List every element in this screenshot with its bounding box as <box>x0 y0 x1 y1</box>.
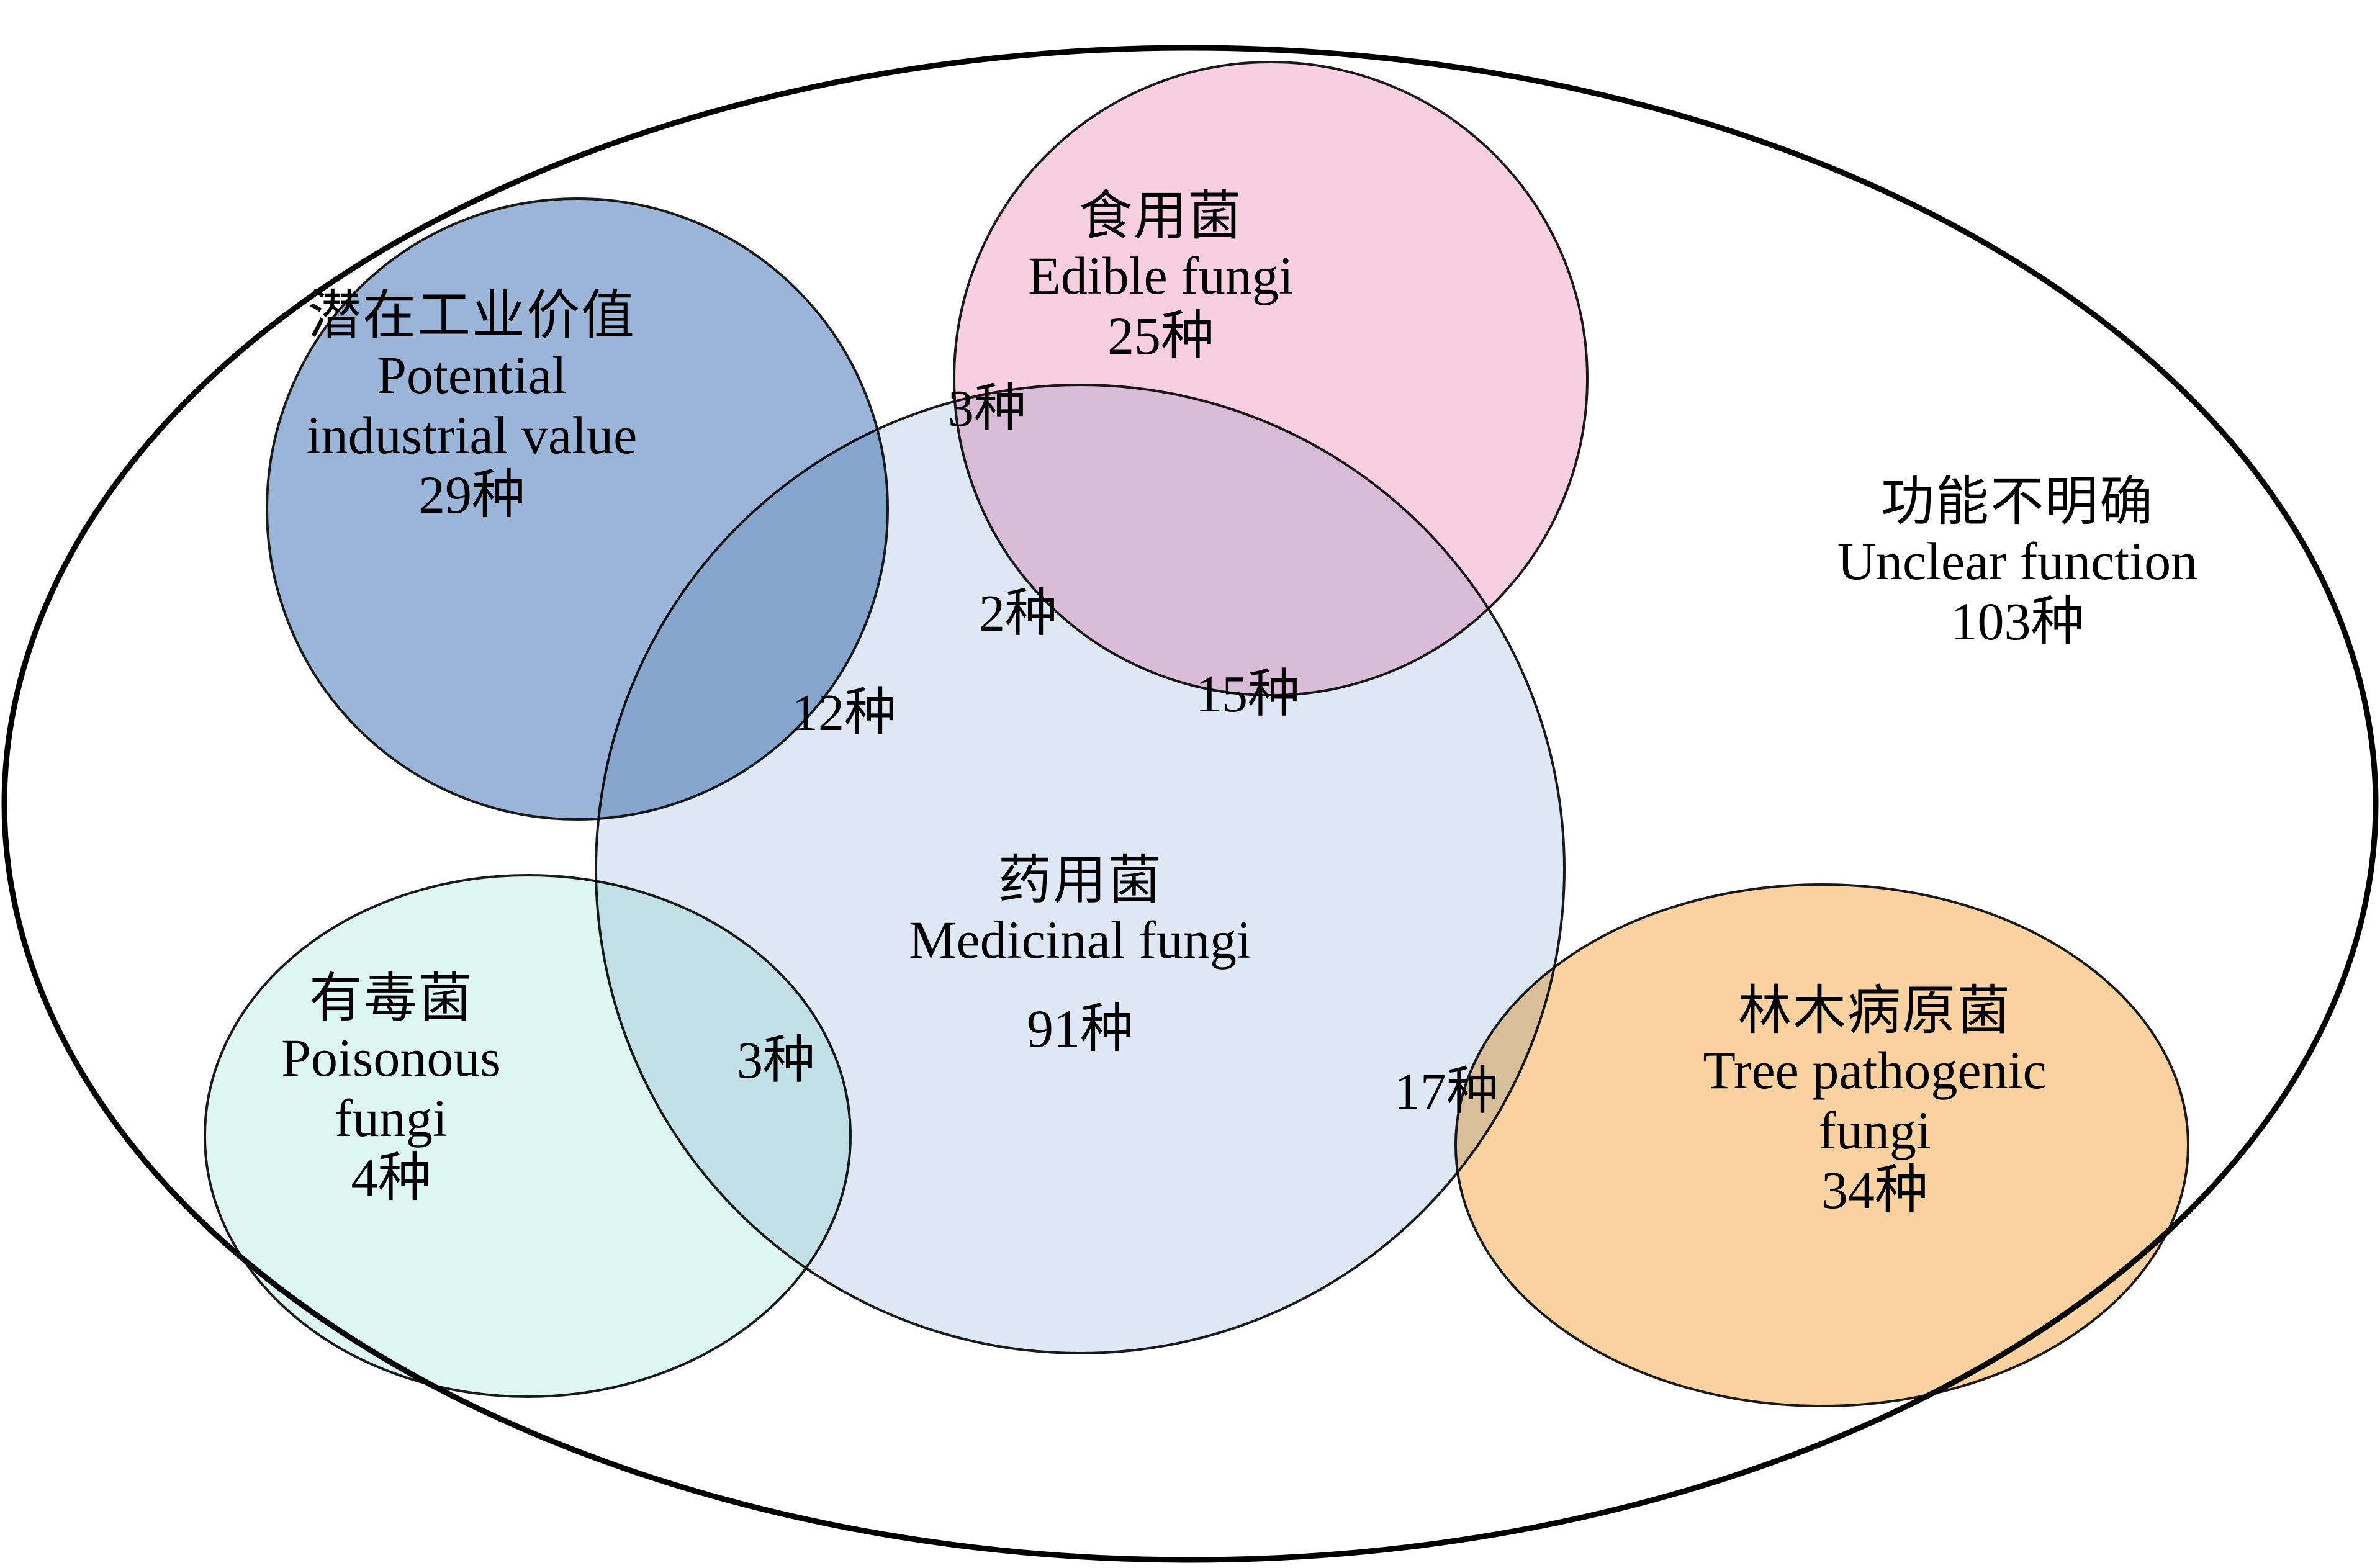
set-medicinal-fungi-shape[interactable] <box>596 385 1564 1353</box>
venn-shapes-svg <box>0 0 2380 1568</box>
set-tree-pathogenic-fungi-shape[interactable] <box>1456 885 2188 1406</box>
venn-diagram-canvas: 潜在工业价值 Potential industrial value 29种 食用… <box>0 0 2380 1568</box>
